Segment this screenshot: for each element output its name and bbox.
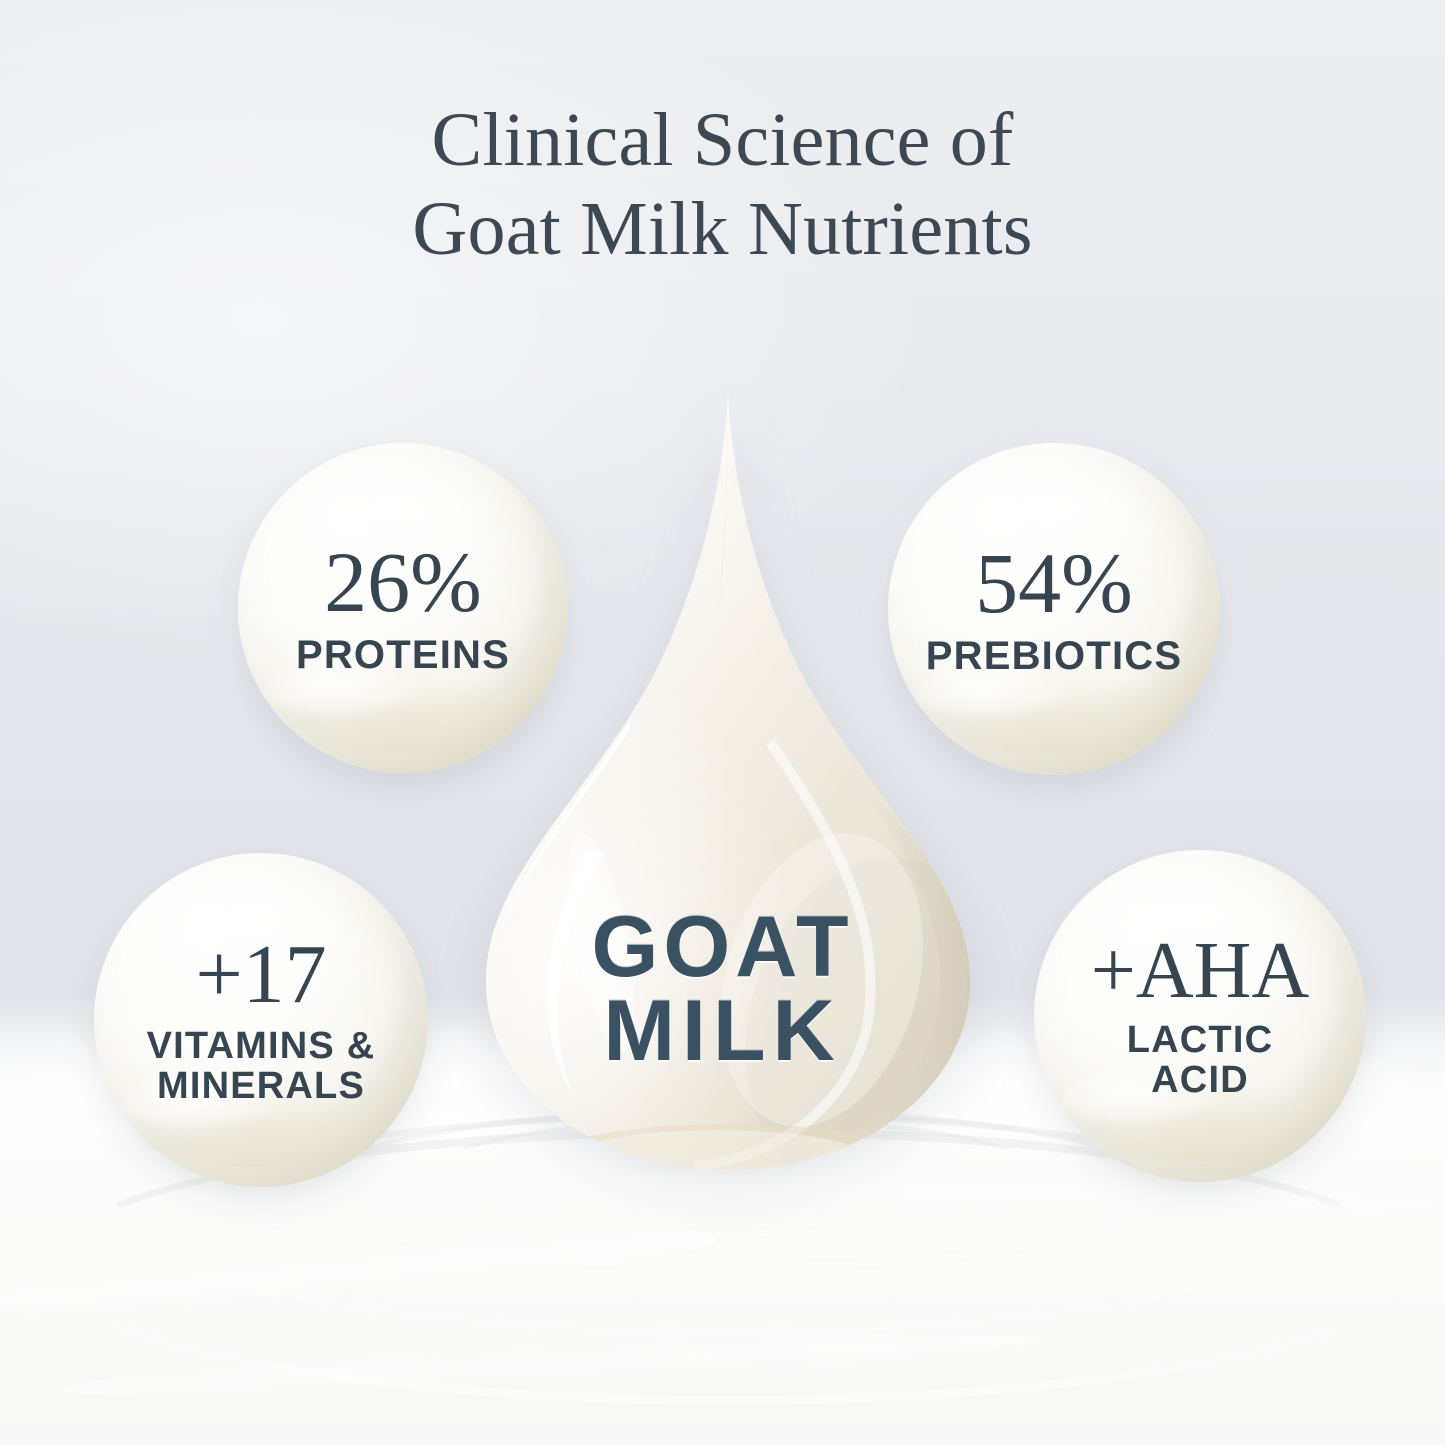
nutrient-bubble-proteins[interactable]: 26% PROTEINS xyxy=(238,443,568,773)
milk-surface-streak xyxy=(0,1216,721,1328)
page-title: Clinical Science of Goat Milk Nutrients xyxy=(0,96,1445,274)
nutrient-stat-value: +17 xyxy=(195,933,326,1017)
milk-droplet-icon xyxy=(470,382,986,1182)
nutrient-bubble-aha-lactic-acid[interactable]: +AHA LACTIC ACID xyxy=(1034,850,1366,1182)
nutrient-caption-line-2: MINERALS xyxy=(157,1067,365,1107)
milk-surface-streak xyxy=(60,1319,1041,1408)
page-title-line-2: Goat Milk Nutrients xyxy=(0,185,1445,274)
nutrient-caption-line-1: LACTIC xyxy=(1127,1021,1274,1061)
nutrient-bubble-vitamins-minerals[interactable]: +17 VITAMINS & MINERALS xyxy=(94,853,428,1187)
nutrient-bubble-prebiotics[interactable]: 54% PREBIOTICS xyxy=(888,443,1220,775)
page-title-line-1: Clinical Science of xyxy=(0,96,1445,185)
nutrient-stat-value: 26% xyxy=(324,539,482,625)
nutrient-stat-value: 54% xyxy=(975,540,1133,626)
nutrient-caption-line-1: VITAMINS & xyxy=(147,1027,376,1067)
nutrient-caption-line-2: ACID xyxy=(1151,1061,1249,1101)
nutrient-caption-line-1: PROTEINS xyxy=(296,635,510,677)
goat-milk-infographic: Clinical Science of Goat Milk Nutrients xyxy=(0,0,1445,1445)
nutrient-stat-value: +AHA xyxy=(1091,931,1309,1011)
nutrient-caption-line-1: PREBIOTICS xyxy=(926,636,1182,678)
